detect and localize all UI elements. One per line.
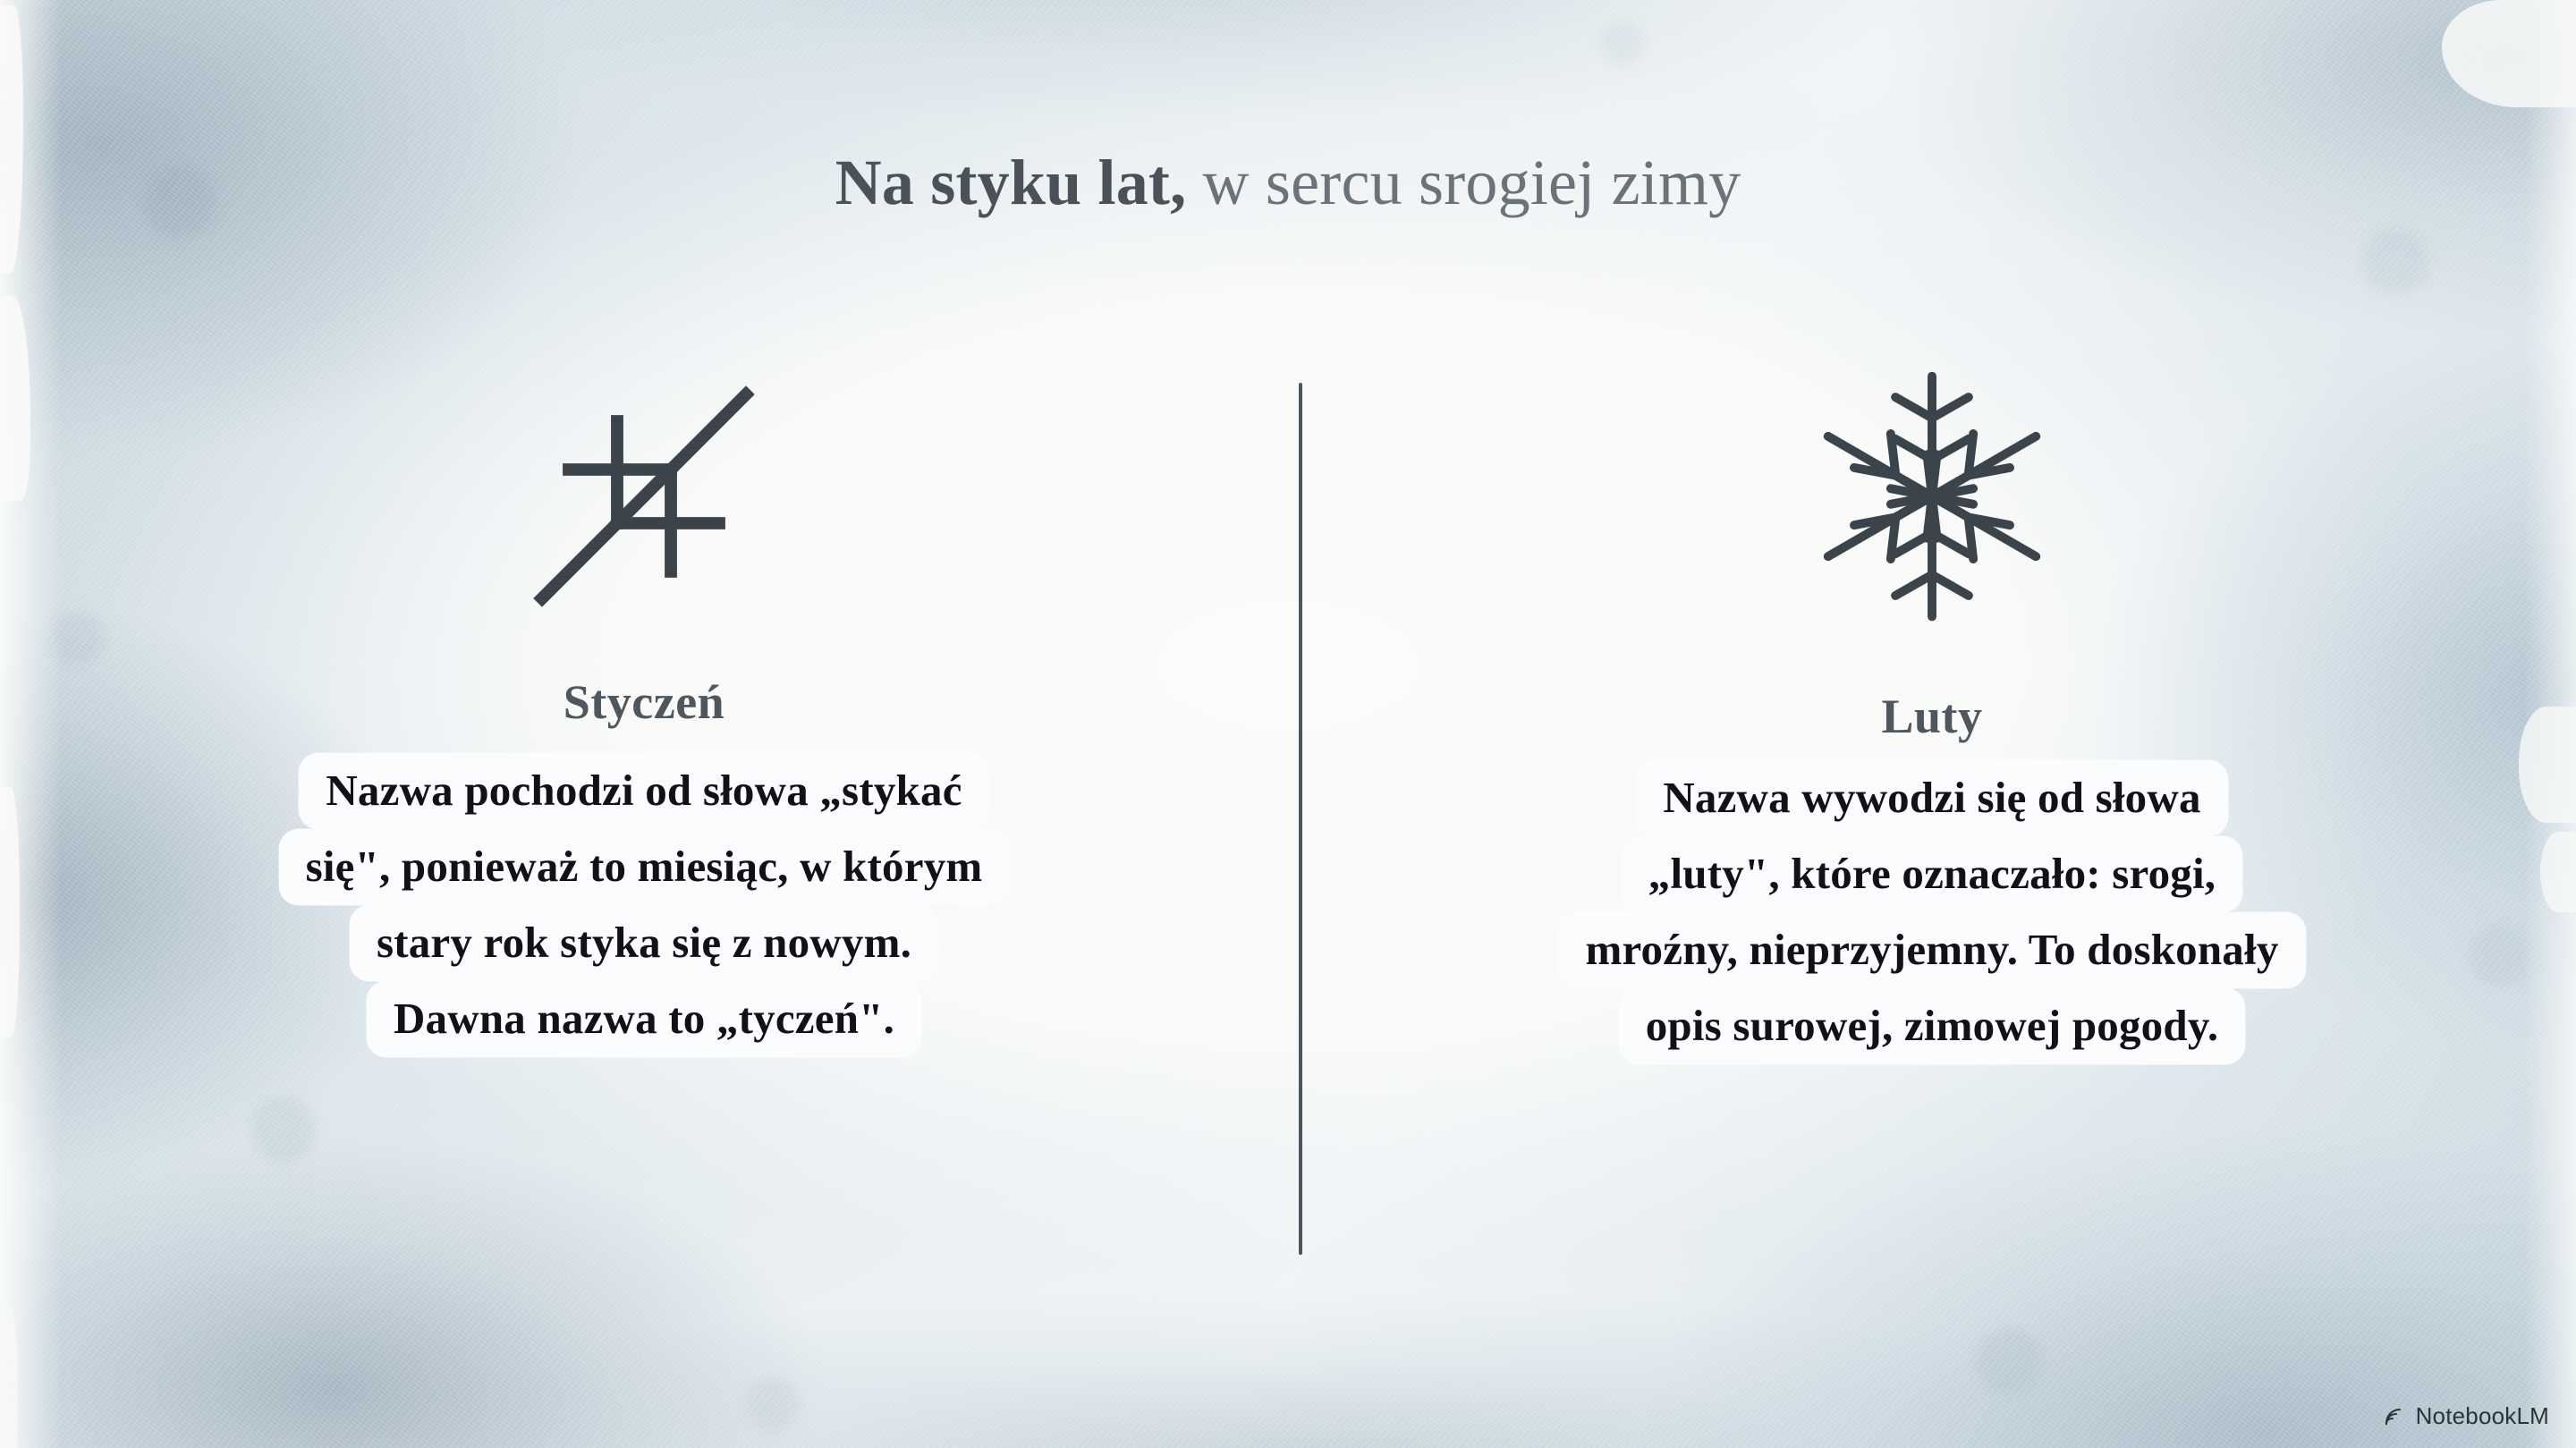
column-styczen: Styczeń Nazwa pochodzi od słowa „stykać … xyxy=(63,340,1225,1057)
slide-canvas: Na styku lat, w sercu srogiej zimy Stycz… xyxy=(0,0,2576,1448)
description-line: „luty", które oznaczało: srogi, xyxy=(1622,836,2243,912)
description-styczen: Nazwa pochodzi od słowa „stykać się", po… xyxy=(63,753,1225,1057)
description-line: mroźny, nieprzyjemny. To doskonały xyxy=(1558,912,2305,988)
description-line: Nazwa pochodzi od słowa „stykać xyxy=(299,753,988,829)
month-label-styczen: Styczeń xyxy=(563,674,724,730)
description-line: się", ponieważ to miesiąc, w którym xyxy=(279,829,1010,905)
notebooklm-watermark: NotebookLM xyxy=(2385,1402,2549,1430)
description-line: opis surowej, zimowej pogody. xyxy=(1619,988,2246,1064)
description-luty: Nazwa wywodzi się od słowa „luty", które… xyxy=(1351,760,2513,1064)
description-line: stary rok styka się z nowym. xyxy=(350,905,938,981)
month-label-luty: Luty xyxy=(1881,689,1982,744)
columns-container: Styczeń Nazwa pochodzi od słowa „stykać … xyxy=(0,0,2576,1448)
crossing-arrows-icon xyxy=(510,340,778,653)
description-line: Nazwa wywodzi się od słowa xyxy=(1636,760,2227,836)
notebooklm-label: NotebookLM xyxy=(2416,1402,2549,1430)
snowflake-icon xyxy=(1801,340,2063,653)
description-line: Dawna nazwa to „tyczeń". xyxy=(367,981,921,1057)
column-luty: Luty Nazwa wywodzi się od słowa „luty", … xyxy=(1351,340,2513,1064)
notebooklm-spiral-icon xyxy=(2385,1407,2408,1427)
